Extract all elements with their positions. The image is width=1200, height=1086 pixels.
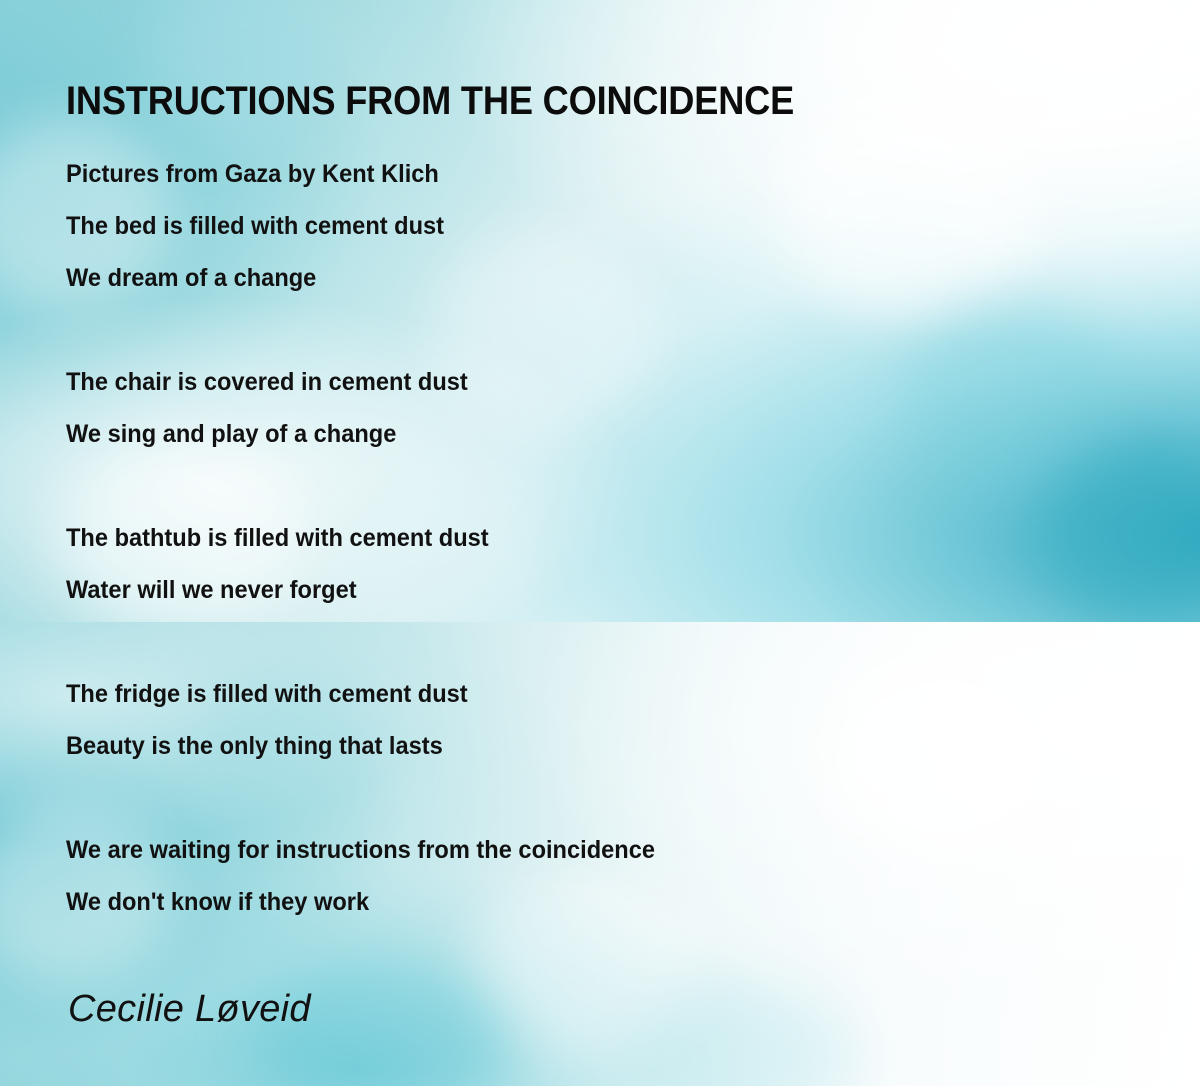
poem-stanza: Pictures from Gaza by Kent Klich The bed… (66, 148, 1136, 304)
poem-stanza: The bathtub is filled with cement dust W… (66, 512, 1136, 616)
poem-content: INSTRUCTIONS FROM THE COINCIDENCE Pictur… (0, 0, 1200, 1086)
poem-line: We are waiting for instructions from the… (66, 824, 1077, 876)
poem-line: Beauty is the only thing that lasts (66, 720, 1077, 772)
poem-line: The bathtub is filled with cement dust (66, 512, 1077, 564)
poem-line: We sing and play of a change (66, 408, 1077, 460)
author-name: Cecilie Løveid (68, 988, 311, 1031)
poem-line: Pictures from Gaza by Kent Klich (66, 148, 1077, 200)
poem-stanza: We are waiting for instructions from the… (66, 824, 1136, 928)
poem-line: The bed is filled with cement dust (66, 200, 1077, 252)
poem-line: Water will we never forget (66, 564, 1077, 616)
poem-line: We don't know if they work (66, 876, 1077, 928)
page-title: INSTRUCTIONS FROM THE COINCIDENCE (66, 79, 794, 124)
poem-line: The chair is covered in cement dust (66, 356, 1077, 408)
poem-line: The fridge is filled with cement dust (66, 668, 1077, 720)
poem-stanza: The fridge is filled with cement dust Be… (66, 668, 1136, 772)
poem-line: We dream of a change (66, 252, 1077, 304)
poem-stanza: The chair is covered in cement dust We s… (66, 356, 1136, 460)
poem-poster: INSTRUCTIONS FROM THE COINCIDENCE Pictur… (0, 0, 1200, 1086)
poem-body: Pictures from Gaza by Kent Klich The bed… (66, 148, 1136, 928)
